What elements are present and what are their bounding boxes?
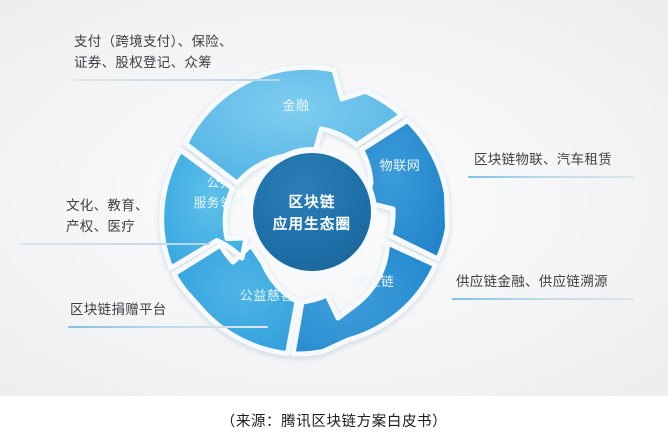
core-title-line2: 应用生态圈 [273, 215, 352, 233]
callout-charity-rule [68, 326, 268, 328]
callout-iot-line1: 区块链物联、汽车租赁 [474, 152, 612, 167]
segment-label-public-service-line1: 公共 [207, 176, 233, 190]
segment-label-iot: 物联网 [380, 158, 421, 173]
callout-supply-chain: 供应链金融、供应链溯源 [456, 272, 634, 300]
callout-public-service-rule [20, 243, 210, 245]
figure-canvas: 区块链 应用生态圈 金融 物联网 供应链 公益慈善 公共 服务领域 支付（跨境支… [0, 0, 668, 444]
callout-public-service-line1: 文化、教育、 [66, 198, 149, 213]
callout-finance-line1: 支付（跨境支付）、保险、 [74, 34, 233, 49]
callout-iot-rule [468, 176, 634, 178]
segment-label-finance: 金融 [282, 98, 309, 113]
callout-finance: 支付（跨境支付）、保险、 证券、股权登记、众筹 [74, 32, 280, 81]
callout-charity-line1: 区块链捐赠平台 [70, 302, 167, 317]
callout-supply-chain-line1: 供应链金融、供应链溯源 [456, 274, 608, 289]
callout-finance-line2: 证券、股权登记、众筹 [74, 55, 212, 70]
callout-public-service-line2: 产权、医疗 [66, 219, 135, 234]
callout-supply-chain-rule [452, 298, 634, 300]
blockchain-ecosystem-diagram: 区块链 应用生态圈 金融 物联网 供应链 公益慈善 公共 服务领域 支付（跨境支… [0, 0, 668, 396]
figure-source-caption: （来源：腾讯区块链方案白皮书） [0, 396, 668, 444]
segment-label-supply-chain: 供应链 [354, 274, 395, 289]
core-circle[interactable] [250, 150, 374, 274]
callout-public-service: 文化、教育、 产权、医疗 [66, 196, 210, 245]
callout-charity: 区块链捐赠平台 [70, 300, 268, 328]
segment-iot[interactable] [362, 120, 448, 259]
callout-iot: 区块链物联、汽车租赁 [474, 150, 634, 178]
callout-finance-rule [72, 79, 280, 81]
core-title-line1: 区块链 [288, 193, 335, 211]
